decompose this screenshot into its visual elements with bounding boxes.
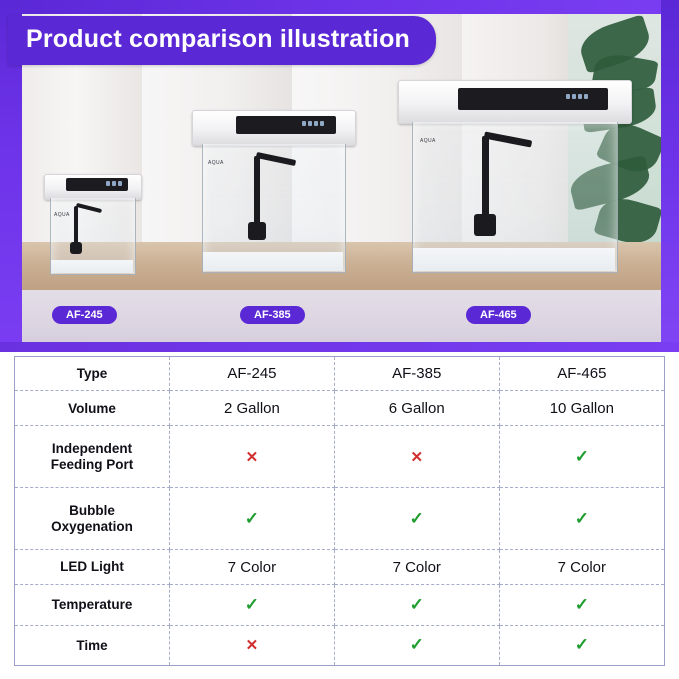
row-header: Time (15, 625, 170, 665)
frame-top (0, 0, 679, 14)
table-cell: ✓ (499, 625, 664, 665)
table-cell: 2 Gallon (170, 391, 335, 426)
cross-icon: ✕ (410, 449, 423, 466)
product-photo: AQUA AQUA (0, 0, 679, 352)
pump-rod (254, 156, 260, 232)
table-cell: ✓ (499, 426, 664, 488)
cross-icon: ✕ (246, 637, 259, 654)
table-row: IndependentFeeding Port✕✕✓ (15, 426, 664, 488)
product-comparison-page: AQUA AQUA (0, 0, 679, 679)
table-row: Time✕✓✓ (15, 625, 664, 665)
table-row: TypeAF-245AF-385AF-465 (15, 357, 664, 391)
table-row: LED Light7 Color7 Color7 Color (15, 550, 664, 585)
aquarium-af-465: AQUA (398, 80, 630, 286)
table-cell: ✓ (170, 585, 335, 626)
table-cell: ✕ (334, 426, 499, 488)
brand-mark: AQUA (208, 160, 224, 166)
check-icon: ✓ (575, 447, 589, 466)
table-cell: AF-385 (334, 357, 499, 391)
pump-head (248, 222, 266, 240)
check-icon: ✓ (245, 595, 259, 614)
table-cell: ✓ (170, 488, 335, 550)
aquarium-af-385: AQUA (192, 110, 354, 286)
tank-label-af-245: AF-245 (52, 306, 117, 324)
row-header: LED Light (15, 550, 170, 585)
brand-mark: AQUA (54, 212, 70, 218)
pump-head (474, 214, 496, 236)
row-header-line: Feeding Port (17, 457, 167, 473)
table-row: BubbleOxygenation✓✓✓ (15, 488, 664, 550)
table-cell: AF-245 (170, 357, 335, 391)
tank-label-af-385: AF-385 (240, 306, 305, 324)
row-header: Temperature (15, 585, 170, 626)
row-header: Volume (15, 391, 170, 426)
row-header: Type (15, 357, 170, 391)
table-cell: 6 Gallon (334, 391, 499, 426)
table-front-edge (22, 290, 661, 342)
table-row: Volume2 Gallon6 Gallon10 Gallon (15, 391, 664, 426)
row-header-line: Bubble (17, 503, 167, 519)
check-icon: ✓ (575, 509, 589, 528)
table-cell: ✓ (334, 585, 499, 626)
pump-rod (482, 136, 489, 224)
table-row: Temperature✓✓✓ (15, 585, 664, 626)
table-cell: ✓ (499, 488, 664, 550)
led-indicator-group (566, 94, 588, 99)
comparison-table: TypeAF-245AF-385AF-465Volume2 Gallon6 Ga… (14, 356, 665, 666)
table-cell: ✓ (334, 488, 499, 550)
check-icon: ✓ (410, 635, 424, 654)
table-cell: ✕ (170, 625, 335, 665)
check-icon: ✓ (410, 509, 424, 528)
table-cell: 7 Color (170, 550, 335, 585)
tank-water (413, 248, 615, 271)
table-cell: 7 Color (499, 550, 664, 585)
led-indicator-group (302, 121, 324, 126)
tank-water (51, 260, 133, 273)
row-header-line: Oxygenation (17, 519, 167, 535)
frame-right (661, 0, 679, 352)
page-title: Product comparison illustration (8, 16, 436, 65)
check-icon: ✓ (575, 635, 589, 654)
check-icon: ✓ (410, 595, 424, 614)
tank-water (203, 252, 343, 271)
cross-icon: ✕ (246, 449, 259, 466)
pump-head (70, 242, 82, 254)
lid-control-panel (458, 88, 608, 110)
aquarium-af-245: AQUA (44, 174, 140, 284)
brand-mark: AQUA (420, 138, 436, 144)
table-cell: 7 Color (334, 550, 499, 585)
led-indicator-group (106, 181, 122, 186)
check-icon: ✓ (245, 509, 259, 528)
row-header: BubbleOxygenation (15, 488, 170, 550)
table-cell: AF-465 (499, 357, 664, 391)
tank-label-af-465: AF-465 (466, 306, 531, 324)
check-icon: ✓ (575, 595, 589, 614)
frame-bottom (0, 342, 679, 352)
table-cell: ✓ (334, 625, 499, 665)
table-cell: ✕ (170, 426, 335, 488)
table-cell: 10 Gallon (499, 391, 664, 426)
row-header: IndependentFeeding Port (15, 426, 170, 488)
table-cell: ✓ (499, 585, 664, 626)
row-header-line: Independent (17, 441, 167, 457)
